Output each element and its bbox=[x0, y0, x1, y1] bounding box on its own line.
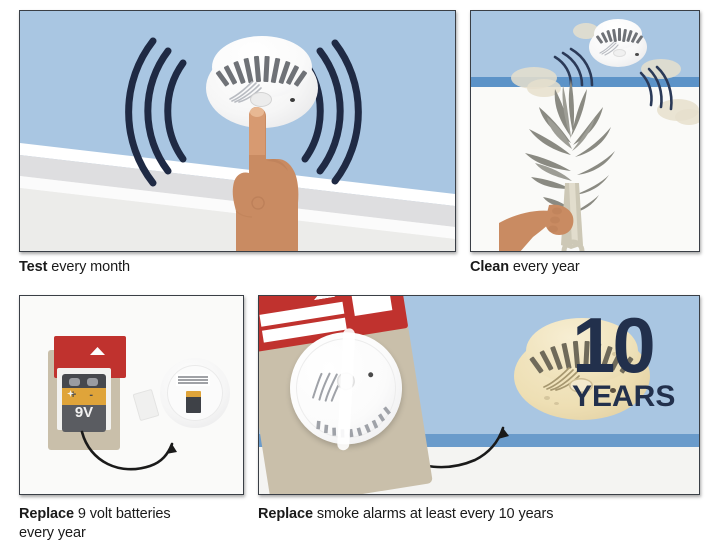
panel-test-every-month bbox=[19, 10, 456, 252]
caption-batteries-rest: 9 volt batteries bbox=[74, 506, 171, 522]
aged-alarm-grime-spot bbox=[544, 396, 550, 400]
hand-pressing-test-button bbox=[228, 99, 304, 252]
panel-clean-every-year bbox=[470, 10, 700, 252]
badge-word: YEARS bbox=[572, 382, 692, 412]
smoke-alarm-maintenance-infographic: Test every month bbox=[0, 0, 720, 551]
package-logo-box bbox=[351, 295, 392, 316]
caption-clean-rest: every year bbox=[509, 259, 580, 275]
caption-batteries-bold: Replace bbox=[19, 506, 74, 522]
battery-polarity-marks: + - bbox=[62, 389, 106, 401]
aged-alarm-grime-spot bbox=[554, 402, 559, 405]
package-hang-hole bbox=[312, 295, 335, 300]
badge-number: 10 bbox=[572, 308, 692, 382]
new-smoke-alarm-device bbox=[282, 324, 410, 452]
caption-clean-bold: Clean bbox=[470, 259, 509, 275]
caption-test-bold: Test bbox=[19, 259, 47, 275]
caption-alarms: Replace smoke alarms at least every 10 y… bbox=[258, 505, 553, 524]
battery-compartment bbox=[186, 391, 201, 413]
alarm-info-label bbox=[176, 374, 210, 386]
ten-years-badge: 10 YEARS bbox=[572, 308, 692, 428]
caption-alarms-bold: Replace bbox=[258, 506, 313, 522]
caption-clean: Clean every year bbox=[470, 258, 580, 277]
battery-terminal-positive bbox=[69, 378, 80, 386]
caption-test-rest: every month bbox=[47, 259, 130, 275]
boxed-new-smoke-alarm bbox=[258, 295, 445, 495]
caption-alarms-rest: smoke alarms at least every 10 years bbox=[313, 506, 553, 522]
panel-replace-alarms: 10 YEARS bbox=[258, 295, 700, 495]
caption-batteries-line2: every year bbox=[19, 524, 171, 543]
caption-test: Test every month bbox=[19, 258, 130, 277]
panel-replace-batteries: + - 9V bbox=[19, 295, 244, 495]
package-hang-hole bbox=[90, 347, 105, 355]
feather-duster bbox=[499, 63, 639, 252]
caption-batteries: Replace 9 volt batteries every year bbox=[19, 505, 171, 543]
battery-terminal-negative bbox=[87, 378, 98, 386]
battery-insert-arrow bbox=[80, 414, 185, 479]
